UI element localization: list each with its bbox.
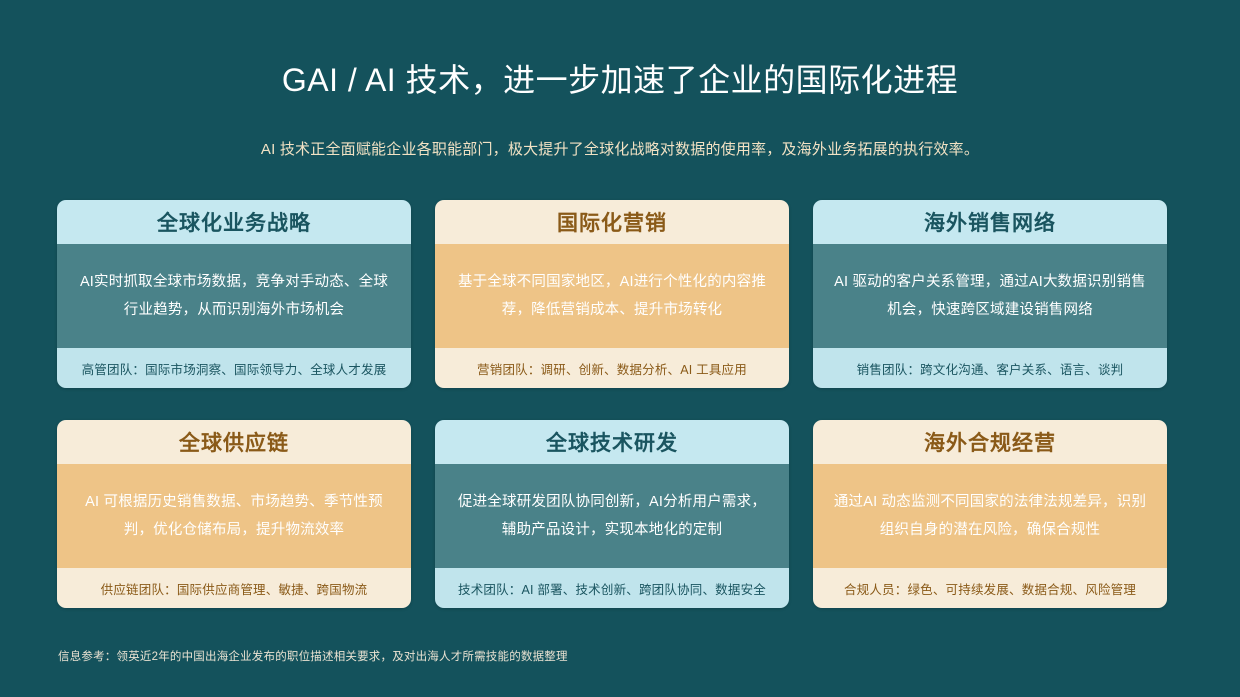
- card-footer: 合规人员：绿色、可持续发展、数据合规、风险管理: [813, 568, 1167, 608]
- card-title: 国际化营销: [435, 200, 789, 244]
- card-body-text: AI 可根据历史销售数据、市场趋势、季节性预判，优化仓储布局，提升物流效率: [75, 488, 393, 544]
- card-title: 全球供应链: [57, 420, 411, 464]
- card-title: 全球技术研发: [435, 420, 789, 464]
- card-title: 全球化业务战略: [57, 200, 411, 244]
- card-body-text: 通过AI 动态监测不同国家的法律法规差异，识别组织自身的潜在风险，确保合规性: [831, 488, 1149, 544]
- card-footer: 供应链团队：国际供应商管理、敏捷、跨国物流: [57, 568, 411, 608]
- card-footer: 技术团队：AI 部署、技术创新、跨团队协同、数据安全: [435, 568, 789, 608]
- card-footer: 营销团队：调研、创新、数据分析、AI 工具应用: [435, 348, 789, 388]
- card-footer: 销售团队：跨文化沟通、客户关系、语言、谈判: [813, 348, 1167, 388]
- card-body-text: AI实时抓取全球市场数据，竞争对手动态、全球行业趋势，从而识别海外市场机会: [75, 268, 393, 324]
- card-body-text: AI 驱动的客户关系管理，通过AI大数据识别销售机会，快速跨区域建设销售网络: [831, 268, 1149, 324]
- card-body: AI 可根据历史销售数据、市场趋势、季节性预判，优化仓储布局，提升物流效率: [57, 464, 411, 568]
- card-footer: 高管团队：国际市场洞察、国际领导力、全球人才发展: [57, 348, 411, 388]
- card-global-supply-chain[interactable]: 全球供应链 AI 可根据历史销售数据、市场趋势、季节性预判，优化仓储布局，提升物…: [57, 420, 411, 608]
- card-body: 基于全球不同国家地区，AI进行个性化的内容推荐，降低营销成本、提升市场转化: [435, 244, 789, 348]
- card-overseas-compliance[interactable]: 海外合规经营 通过AI 动态监测不同国家的法律法规差异，识别组织自身的潜在风险，…: [813, 420, 1167, 608]
- card-title: 海外合规经营: [813, 420, 1167, 464]
- card-body-text: 促进全球研发团队协同创新，AI分析用户需求，辅助产品设计，实现本地化的定制: [453, 488, 771, 544]
- card-grid: 全球化业务战略 AI实时抓取全球市场数据，竞争对手动态、全球行业趋势，从而识别海…: [57, 200, 1183, 608]
- card-body-text: 基于全球不同国家地区，AI进行个性化的内容推荐，降低营销成本、提升市场转化: [453, 268, 771, 324]
- page-subtitle: AI 技术正全面赋能企业各职能部门，极大提升了全球化战略对数据的使用率，及海外业…: [0, 138, 1240, 162]
- card-body: 通过AI 动态监测不同国家的法律法规差异，识别组织自身的潜在风险，确保合规性: [813, 464, 1167, 568]
- card-global-rnd[interactable]: 全球技术研发 促进全球研发团队协同创新，AI分析用户需求，辅助产品设计，实现本地…: [435, 420, 789, 608]
- card-global-business-strategy[interactable]: 全球化业务战略 AI实时抓取全球市场数据，竞争对手动态、全球行业趋势，从而识别海…: [57, 200, 411, 388]
- card-title: 海外销售网络: [813, 200, 1167, 244]
- card-international-marketing[interactable]: 国际化营销 基于全球不同国家地区，AI进行个性化的内容推荐，降低营销成本、提升市…: [435, 200, 789, 388]
- card-body: 促进全球研发团队协同创新，AI分析用户需求，辅助产品设计，实现本地化的定制: [435, 464, 789, 568]
- card-body: AI实时抓取全球市场数据，竞争对手动态、全球行业趋势，从而识别海外市场机会: [57, 244, 411, 348]
- card-overseas-sales-network[interactable]: 海外销售网络 AI 驱动的客户关系管理，通过AI大数据识别销售机会，快速跨区域建…: [813, 200, 1167, 388]
- source-footnote: 信息参考：领英近2年的中国出海企业发布的职位描述相关要求，及对出海人才所需技能的…: [58, 648, 568, 666]
- slide-root: GAI / AI 技术，进一步加速了企业的国际化进程 AI 技术正全面赋能企业各…: [0, 0, 1240, 697]
- card-body: AI 驱动的客户关系管理，通过AI大数据识别销售机会，快速跨区域建设销售网络: [813, 244, 1167, 348]
- page-title: GAI / AI 技术，进一步加速了企业的国际化进程: [0, 58, 1240, 102]
